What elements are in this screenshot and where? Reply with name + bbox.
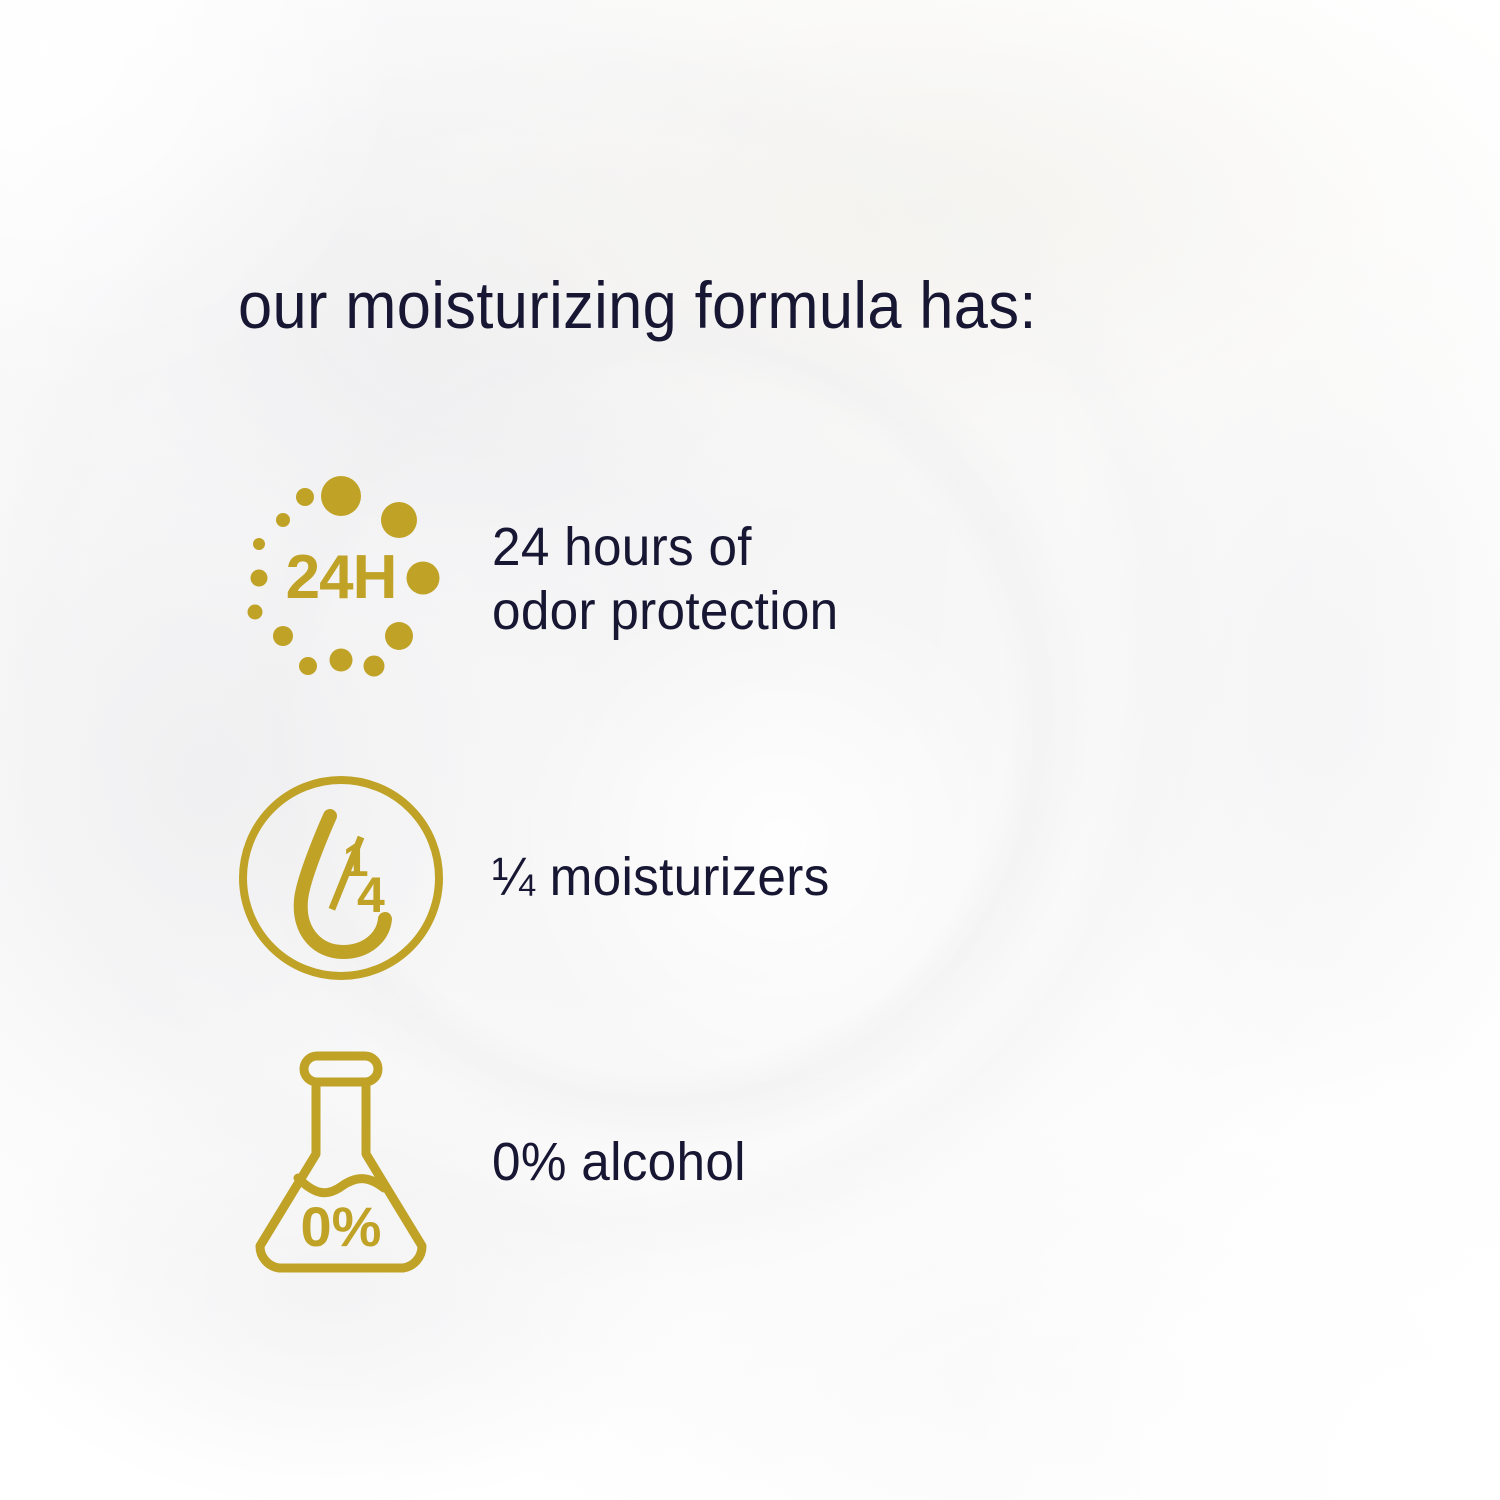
- 24h-icon-label: 24H: [286, 543, 397, 612]
- flask-liquid-line: [298, 1178, 384, 1193]
- droplet-quarter-icon: 1 4: [235, 772, 447, 984]
- feature-label-moisturizers: ¼ moisturizers: [492, 846, 830, 910]
- icon-slot-alcohol-free: 0%: [232, 1050, 450, 1276]
- flask-icon-label: 0%: [301, 1195, 382, 1258]
- flask-zero-percent-icon: 0%: [246, 1050, 436, 1276]
- feature-row-moisturizers: 1 4 ¼ moisturizers: [232, 772, 847, 984]
- product-claims-graphic: our moisturizing formula has:: [0, 0, 1500, 1500]
- icon-slot-odor-protection: 24H: [232, 466, 450, 694]
- svg-text:4: 4: [357, 867, 385, 923]
- 24h-dots-icon: 24H: [232, 466, 450, 694]
- page-title: our moisturizing formula has:: [238, 272, 1037, 338]
- feature-row-odor-protection: 24H 24 hours of odor protection: [232, 466, 857, 694]
- feature-label-odor-protection: 24 hours of odor protection: [492, 516, 838, 643]
- feature-row-alcohol-free: 0% 0% alcohol: [232, 1050, 759, 1276]
- feature-label-alcohol-free: 0% alcohol: [492, 1131, 746, 1195]
- icon-slot-moisturizers: 1 4: [232, 772, 450, 984]
- droplet-icon-fraction: 1 4: [329, 834, 385, 923]
